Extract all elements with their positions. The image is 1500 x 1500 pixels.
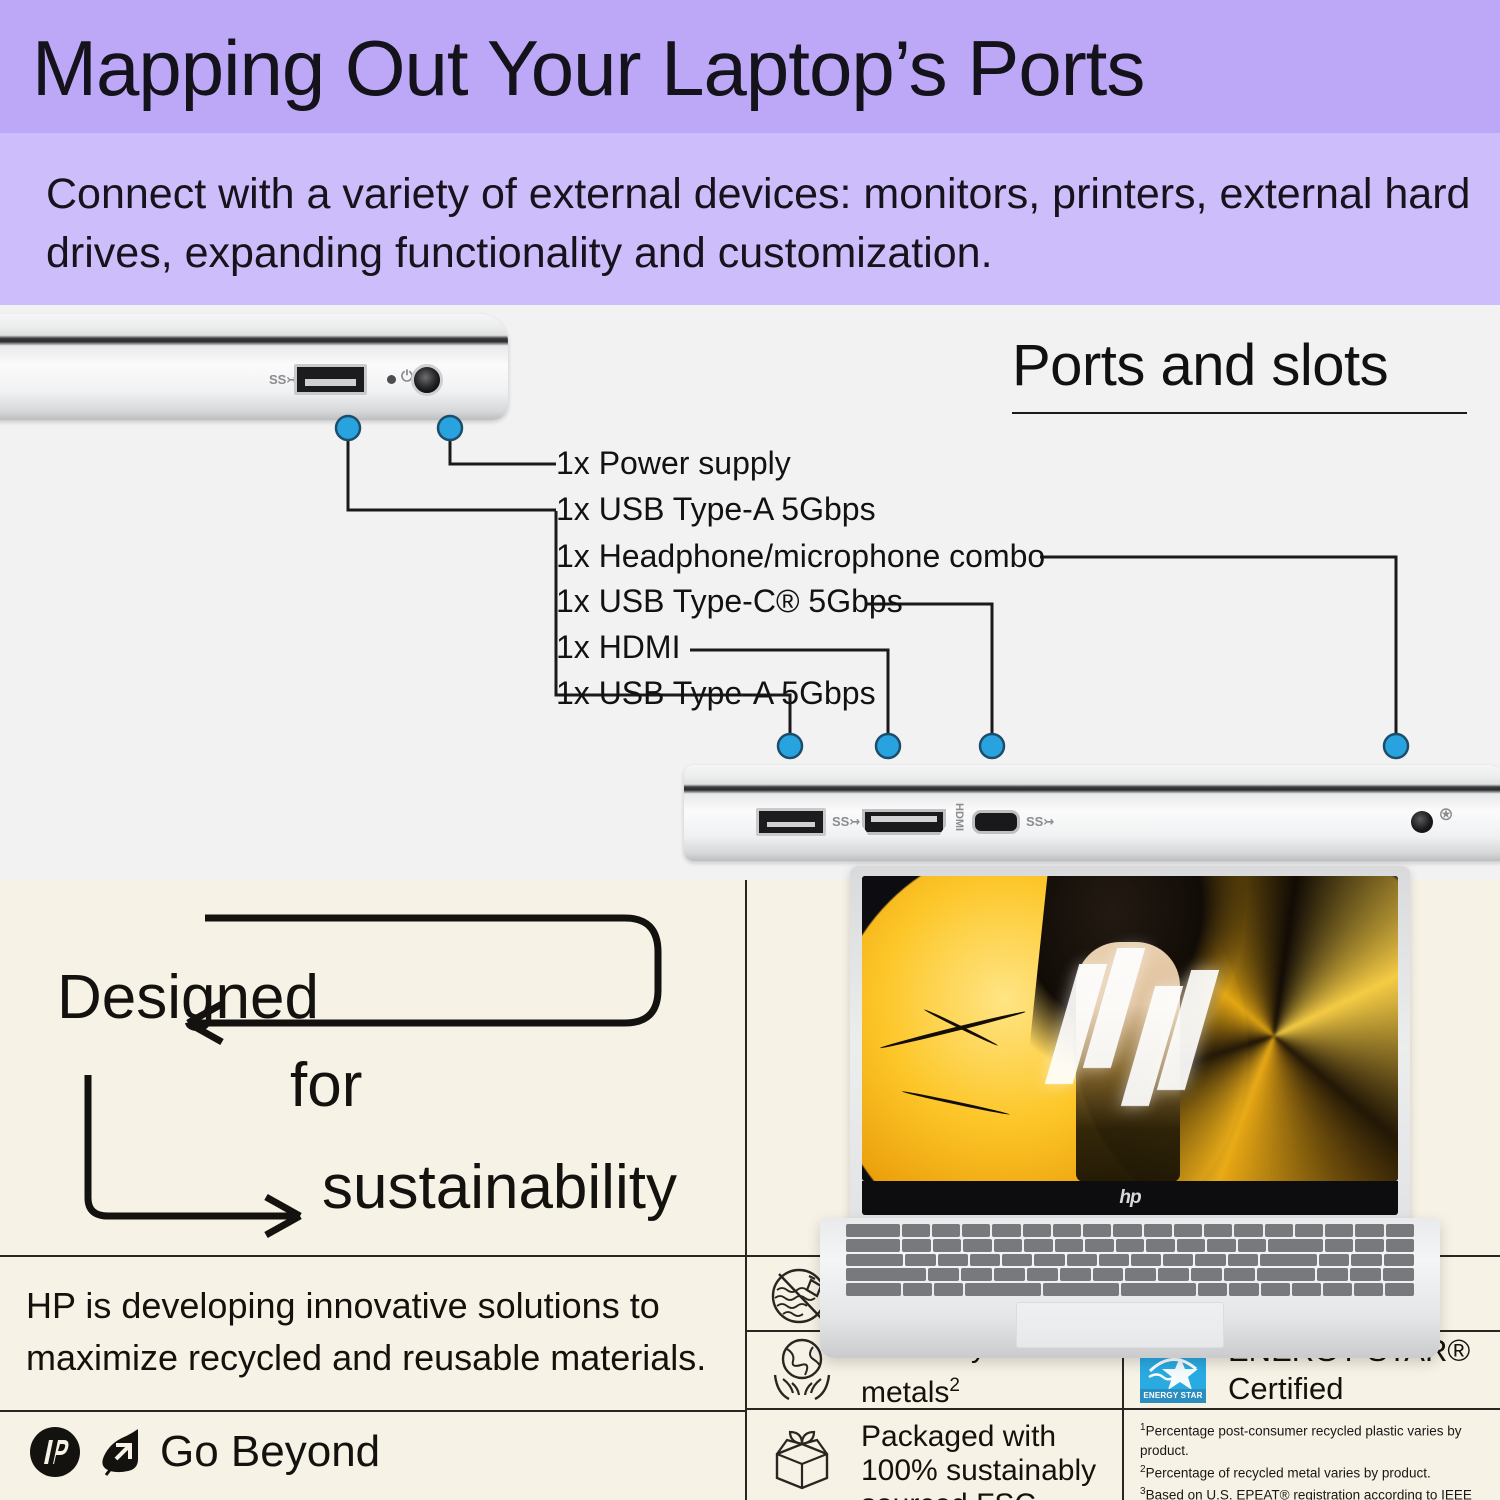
keyboard-row — [846, 1224, 1414, 1237]
laptop-keyboard — [846, 1224, 1414, 1296]
footnote-2: 2Percentage of recycled metal varies by … — [1140, 1460, 1490, 1483]
laptop-screen — [862, 876, 1398, 1181]
sustainability-left-copy: HP is developing innovative solutions to… — [26, 1280, 716, 1384]
laptop-lid: hp — [850, 866, 1410, 1226]
keyboard-row — [846, 1283, 1414, 1296]
infographic-page: Mapping Out Your Laptop’s Ports Connect … — [0, 0, 1500, 1500]
keyboard-row — [846, 1268, 1414, 1281]
callout-label-headphone-combo: 1x Headphone/microphone combo — [556, 539, 1045, 573]
screen-bezel-chin: hp — [862, 1181, 1398, 1215]
packaging-label: Packaged with 100% sustainably sourced F… — [861, 1420, 1105, 1500]
keyboard-row — [846, 1254, 1414, 1267]
callout-label-hdmi: 1x HDMI — [556, 630, 680, 664]
callout-label-power-supply: 1x Power supply — [556, 446, 791, 480]
footnotes-block: 1Percentage post-consumer recycled plast… — [1140, 1418, 1490, 1500]
page-title: Mapping Out Your Laptop’s Ports — [32, 24, 1144, 112]
laptop-trackpad — [1016, 1302, 1224, 1348]
sustainability-row-packaging: Packaged with 100% sustainably sourced F… — [765, 1418, 1105, 1498]
laptop-product-photo: hp — [820, 866, 1440, 1386]
callout-label-usb-c: 1x USB Type-C® 5Gbps — [556, 584, 903, 618]
laptop-base — [820, 1218, 1440, 1358]
hp-bezel-logo: hp — [862, 1187, 1398, 1209]
page-subtitle: Connect with a variety of external devic… — [46, 165, 1476, 283]
go-beyond-label: Go Beyond — [160, 1429, 380, 1475]
hp-logo-icon — [28, 1425, 82, 1479]
eco-packaging-box-icon — [765, 1418, 839, 1492]
headline-word-designed: Designed — [57, 965, 319, 1031]
footnote-3: 3Based on U.S. EPEAT® registration accor… — [1140, 1482, 1490, 1500]
footnote-1: 1Percentage post-consumer recycled plast… — [1140, 1418, 1490, 1460]
hp-leaf-sustainability-icon — [98, 1425, 144, 1479]
headline-word-for: for — [290, 1053, 362, 1119]
callout-label-usb-a-top: 1x USB Type-A 5Gbps — [556, 492, 876, 526]
keyboard-row — [846, 1239, 1414, 1252]
footnote-2-text: Percentage of recycled metal varies by p… — [1146, 1465, 1431, 1480]
energy-star-badge-label: ENERGY STAR — [1140, 1391, 1206, 1400]
footnote-1-text: Percentage post-consumer recycled plasti… — [1140, 1424, 1461, 1458]
headline-word-sustainability: sustainability — [322, 1155, 677, 1221]
section-vertical-divider — [745, 880, 747, 1500]
footnote-3-text: Based on U.S. EPEAT® registration accord… — [1140, 1488, 1482, 1500]
section-horizontal-divider-2 — [0, 1410, 745, 1412]
hp-go-beyond-lockup: Go Beyond — [28, 1425, 380, 1479]
hp-screen-watermark-icon — [1058, 948, 1206, 1108]
callout-label-usb-a-bottom: 1x USB Type-A 5Gbps — [556, 676, 876, 710]
